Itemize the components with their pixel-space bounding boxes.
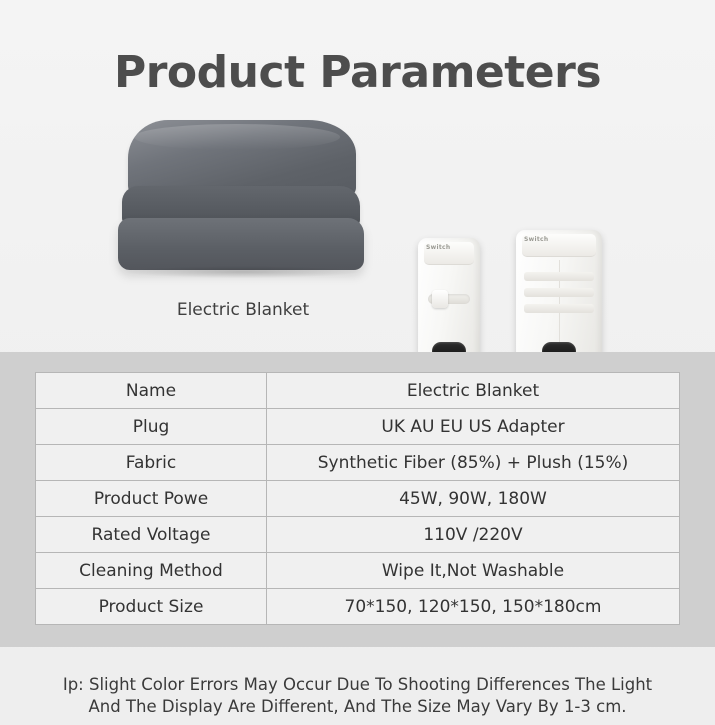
blanket-shadow (126, 266, 358, 278)
single-controller-brand-label: Switch (426, 244, 450, 251)
double-controller-button-row-1 (524, 272, 594, 281)
table-row: Plug UK AU EU US Adapter (36, 409, 680, 445)
caption-electric-blanket: Electric Blanket (128, 300, 358, 321)
table-row: Cleaning Method Wipe It,Not Washable (36, 553, 680, 589)
param-value: Wipe It,Not Washable (267, 553, 680, 589)
param-value: 70*150, 120*150, 150*180cm (267, 589, 680, 625)
table-row: Product Size 70*150, 120*150, 150*180cm (36, 589, 680, 625)
blanket-bottom-fold (118, 218, 364, 270)
param-key: Product Size (36, 589, 267, 625)
double-controller-button-row-3 (524, 304, 594, 313)
param-key: Plug (36, 409, 267, 445)
table-row: Fabric Synthetic Fiber (85%) + Plush (15… (36, 445, 680, 481)
parameters-table-band: Name Electric Blanket Plug UK AU EU US A… (0, 352, 715, 647)
page-title: Product Parameters (0, 0, 715, 96)
param-key: Product Powe (36, 481, 267, 517)
disclaimer-note: Ip: Slight Color Errors May Occur Due To… (0, 674, 715, 717)
param-value: Synthetic Fiber (85%) + Plush (15%) (267, 445, 680, 481)
product-parameters-page: Product Parameters Switch Switch (0, 0, 715, 725)
product-images-row: Switch Switch Electric Blanket Sin (0, 110, 715, 335)
double-controller-button-row-2 (524, 288, 594, 297)
param-key: Rated Voltage (36, 517, 267, 553)
disclaimer-line1: Ip: Slight Color Errors May Occur Due To… (10, 674, 705, 695)
param-value: Electric Blanket (267, 373, 680, 409)
param-value: 45W, 90W, 180W (267, 481, 680, 517)
table-row: Product Powe 45W, 90W, 180W (36, 481, 680, 517)
table-row: Rated Voltage 110V /220V (36, 517, 680, 553)
param-value: 110V /220V (267, 517, 680, 553)
table-row: Name Electric Blanket (36, 373, 680, 409)
single-controller-slider-knob (432, 290, 448, 308)
parameters-table: Name Electric Blanket Plug UK AU EU US A… (35, 372, 680, 625)
param-value: UK AU EU US Adapter (267, 409, 680, 445)
double-controller-brand-label: Switch (524, 236, 548, 243)
param-key: Cleaning Method (36, 553, 267, 589)
param-key: Fabric (36, 445, 267, 481)
disclaimer-line2: And The Display Are Different, And The S… (10, 696, 705, 717)
param-key: Name (36, 373, 267, 409)
electric-blanket-image (118, 120, 368, 280)
